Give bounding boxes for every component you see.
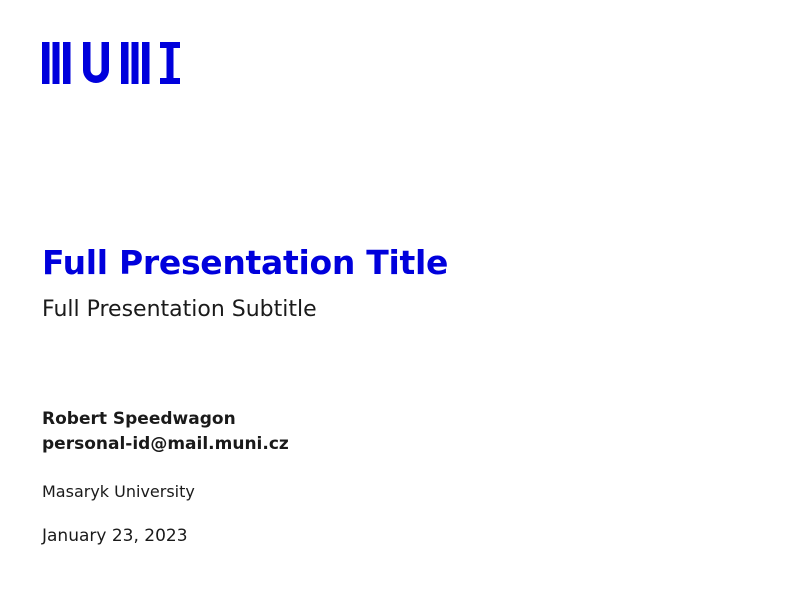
presentation-date: January 23, 2023	[42, 503, 742, 547]
title-block: Full Presentation Title Full Presentatio…	[42, 244, 742, 323]
presentation-subtitle: Full Presentation Subtitle	[42, 282, 742, 323]
author-email: personal-id@mail.muni.cz	[42, 432, 742, 457]
presentation-title: Full Presentation Title	[42, 244, 742, 282]
muni-logo-icon	[40, 40, 180, 86]
author-meta-block: Robert Speedwagon personal-id@mail.muni.…	[42, 407, 742, 547]
author-name: Robert Speedwagon	[42, 407, 742, 432]
muni-logo	[40, 38, 180, 86]
presentation-title-slide: Full Presentation Title Full Presentatio…	[0, 0, 794, 596]
affiliation: Masaryk University	[42, 456, 742, 503]
